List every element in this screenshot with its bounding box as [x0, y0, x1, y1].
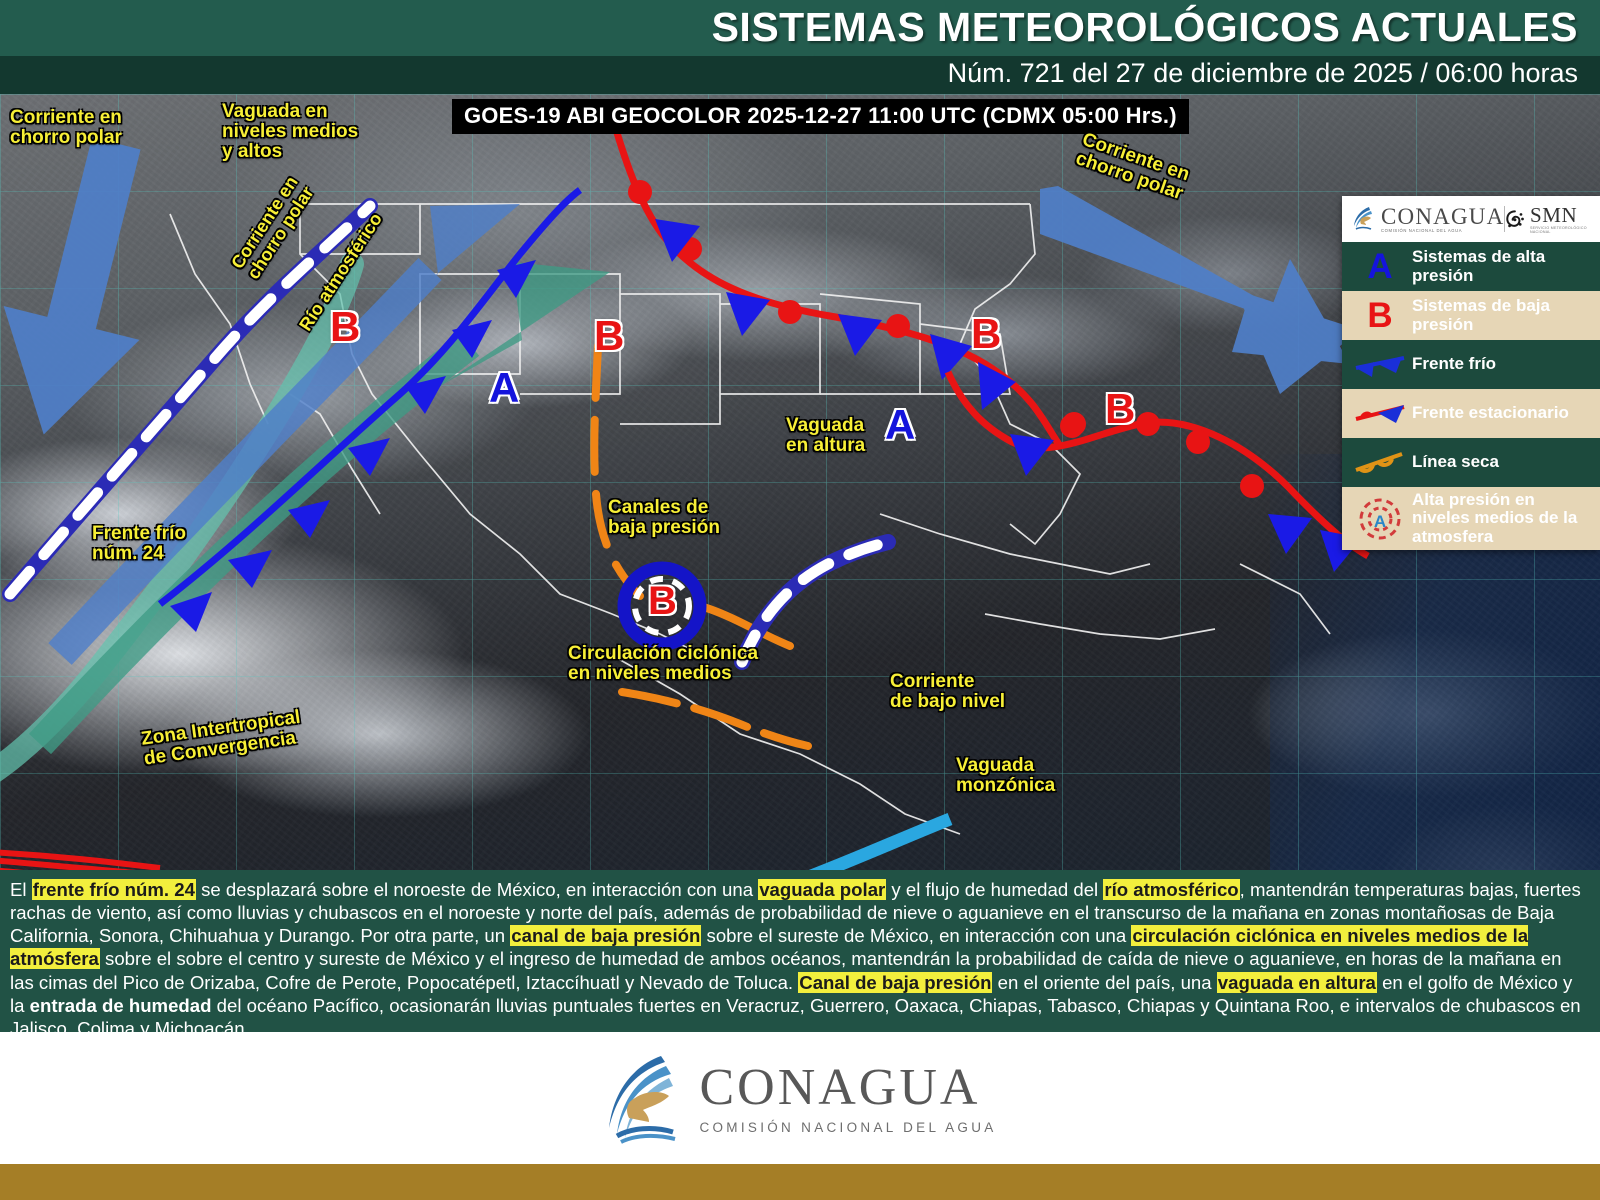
legend-label-stationary-front: Frente estacionario: [1412, 404, 1569, 422]
discussion-segment-0: El: [10, 879, 32, 900]
smn-swirl-icon: [1505, 206, 1525, 232]
discussion-segment-12: en el oriente del país, una: [992, 972, 1216, 993]
legend-smn-subtext: SERVICIO METEOROLÓGICO NACIONAL: [1530, 226, 1590, 234]
footer-brand-text: CONAGUA COMISIÓN NACIONAL DEL AGUA: [699, 1062, 996, 1135]
footer-brand-subtitle: COMISIÓN NACIONAL DEL AGUA: [699, 1120, 996, 1135]
legend-label-low-pressure: Sistemas de baja presión: [1412, 297, 1594, 334]
conagua-logo: CONAGUA COMISIÓN NACIONAL DEL AGUA: [1352, 205, 1504, 233]
conagua-eagle-icon: [1352, 205, 1376, 233]
legend-item-low-pressure: B Sistemas de baja presión: [1342, 291, 1600, 340]
stationary-front-icon: [1348, 401, 1412, 427]
bulletin-number-date: Núm. 721 del 27 de diciembre de 2025 / 0…: [948, 58, 1578, 89]
legend-item-dry-line: Línea seca: [1342, 438, 1600, 487]
legend-label-mid-level-high: Alta presión en niveles medios de la atm…: [1412, 491, 1594, 546]
discussion-segment-11: Canal de baja presión: [798, 972, 992, 993]
footer-brand-name: CONAGUA: [699, 1062, 996, 1114]
legend-conagua-text: CONAGUA: [1381, 205, 1504, 228]
discussion-segment-3: vaguada polar: [758, 879, 886, 900]
discussion-segment-4: y el flujo de humedad del: [886, 879, 1103, 900]
legend-item-stationary-front: Frente estacionario: [1342, 389, 1600, 438]
smn-logo: SMN SERVICIO METEOROLÓGICO NACIONAL: [1505, 205, 1590, 234]
letter-A-icon: A: [1348, 249, 1412, 284]
pressure-mark-A-southwest-us: A: [489, 367, 519, 409]
legend-label-dry-line: Línea seca: [1412, 453, 1499, 471]
legend-item-cold-front: Frente frío: [1342, 340, 1600, 389]
legend-B-glyph: B: [1367, 298, 1392, 333]
pressure-mark-A-gulf-atlantic: A: [885, 404, 915, 446]
map-legend: CONAGUA COMISIÓN NACIONAL DEL AGUA SMN S…: [1342, 196, 1600, 550]
mid-level-high-icon: A: [1348, 497, 1412, 541]
footer-logo-area: CONAGUA COMISIÓN NACIONAL DEL AGUA: [0, 1032, 1600, 1164]
conagua-eagle-icon: [603, 1052, 683, 1144]
letter-B-icon: B: [1348, 298, 1412, 333]
legend-label-cold-front: Frente frío: [1412, 355, 1496, 373]
discussion-segment-1: frente frío núm. 24: [32, 879, 196, 900]
cold-front-icon: [1348, 352, 1412, 378]
pressure-mark-B-cyclonic-center: B: [648, 581, 677, 621]
svg-text:A: A: [1374, 512, 1386, 531]
pressure-mark-B-north-mexico: B: [594, 315, 624, 357]
pressure-mark-B-baja-california: B: [330, 306, 360, 348]
legend-item-mid-level-high: A Alta presión en niveles medios de la a…: [1342, 487, 1600, 550]
discussion-segment-5: río atmosférico: [1103, 879, 1239, 900]
footer-gold-bar: [0, 1164, 1600, 1200]
discussion-segment-7: canal de baja presión: [510, 925, 701, 946]
page-title: SISTEMAS METEOROLÓGICOS ACTUALES: [712, 4, 1578, 51]
legend-label-high-pressure: Sistemas de alta presión: [1412, 248, 1594, 285]
pressure-mark-B-appalachia: B: [971, 313, 1001, 355]
discussion-segment-15: entrada de humedad: [30, 995, 212, 1016]
legend-logo-bar: CONAGUA COMISIÓN NACIONAL DEL AGUA SMN S…: [1342, 196, 1600, 242]
weather-bulletin-page: SISTEMAS METEOROLÓGICOS ACTUALES Núm. 72…: [0, 0, 1600, 1200]
satellite-timestamp: GOES-19 ABI GEOCOLOR 2025-12-27 11:00 UT…: [452, 99, 1189, 134]
discussion-segment-2: se desplazará sobre el noroeste de Méxic…: [196, 879, 758, 900]
discussion-segment-13: vaguada en altura: [1217, 972, 1377, 993]
pressure-mark-B-atlantic: B: [1105, 388, 1135, 430]
legend-smn-text: SMN: [1530, 205, 1590, 226]
forecast-discussion-text: El frente frío núm. 24 se desplazará sob…: [0, 870, 1600, 1032]
legend-item-high-pressure: A Sistemas de alta presión: [1342, 242, 1600, 291]
satellite-map[interactable]: GOES-19 ABI GEOCOLOR 2025-12-27 11:00 UT…: [0, 94, 1600, 870]
legend-A-glyph: A: [1367, 249, 1392, 284]
dry-line-icon: [1348, 450, 1412, 476]
discussion-segment-8: sobre el sureste de México, en interacci…: [701, 925, 1131, 946]
footer-conagua-logo: CONAGUA COMISIÓN NACIONAL DEL AGUA: [603, 1052, 996, 1144]
